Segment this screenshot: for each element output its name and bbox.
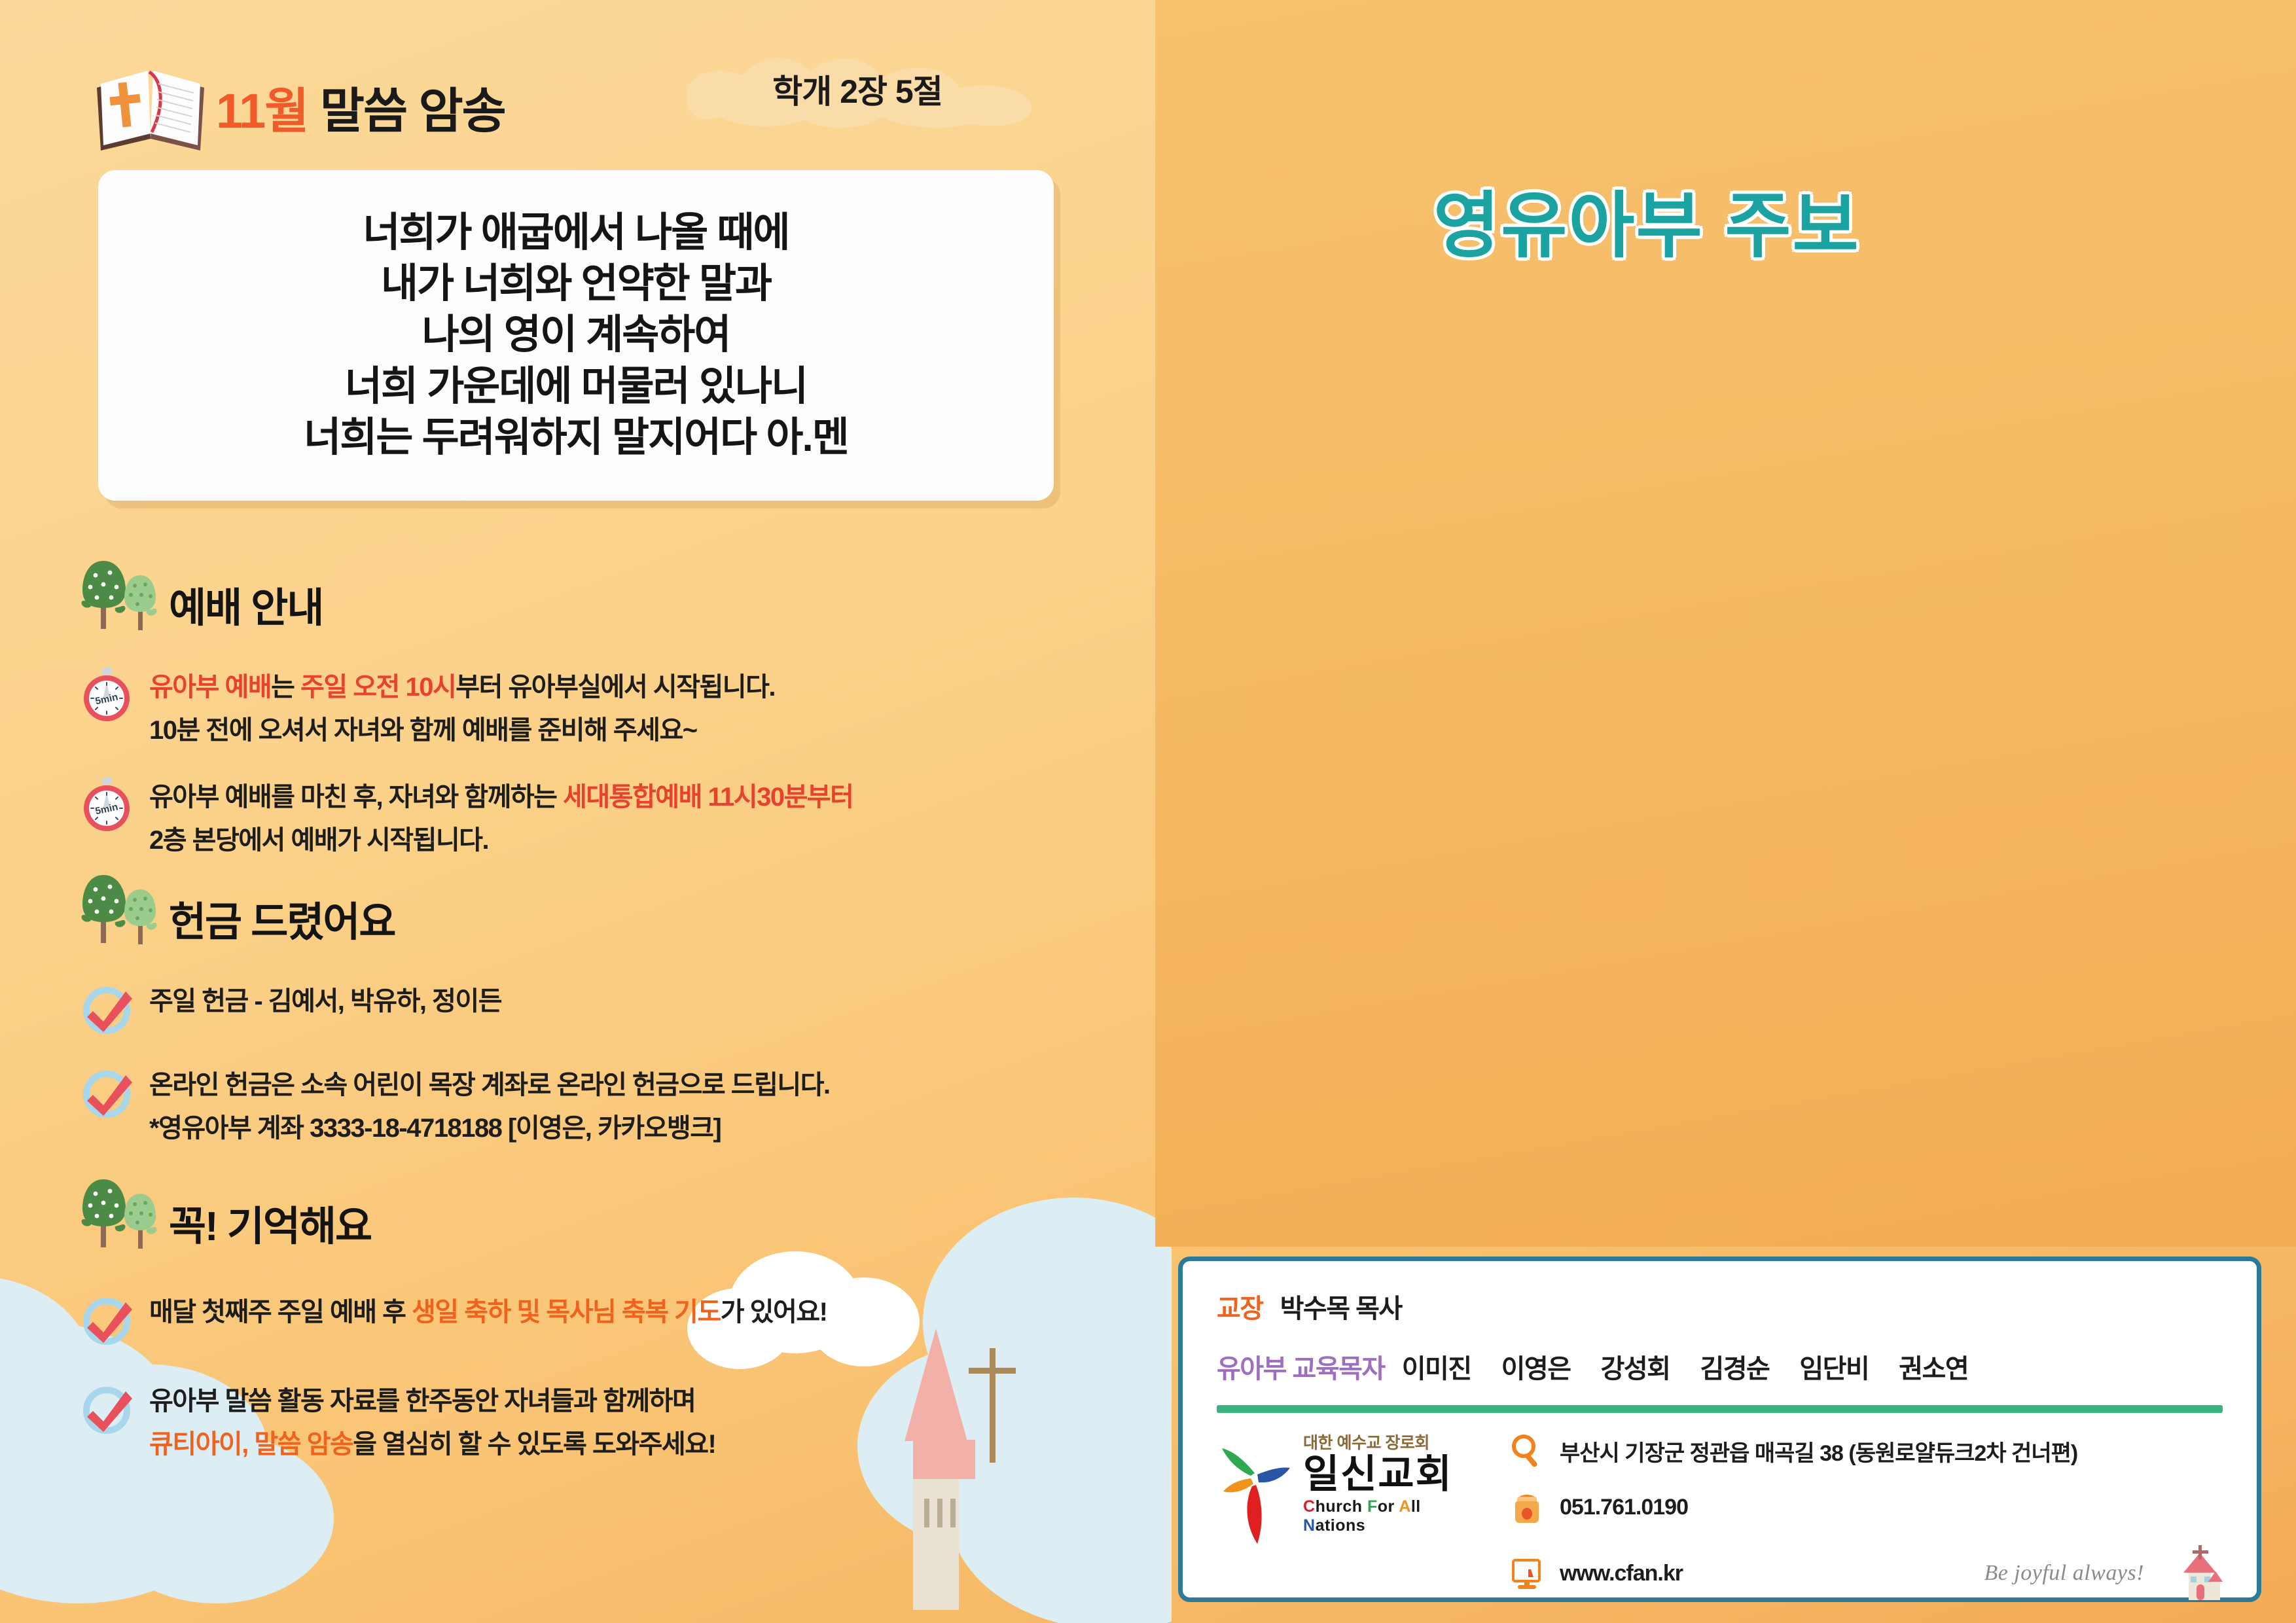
info-box: 교장 박수목 목사 유아부 교육목자 이미진 이영은 강성회 김경순 임단비 권…	[1178, 1257, 2261, 1602]
stopwatch-icon: 5min	[79, 777, 135, 833]
contact-phone: 051.761.0190	[1509, 1489, 2223, 1525]
bullet-text: 유아부 말씀 활동 자료를 한주동안 자녀들과 함께하며 큐티아이, 말씀 암송…	[149, 1380, 715, 1466]
teacher-name-list: 이미진 이영은 강성회 김경순 임단비 권소연	[1402, 1347, 1968, 1385]
bullet-text: 매달 첫째주 주일 예배 후 생일 축하 및 목사님 축복 기도가 있어요!	[149, 1291, 827, 1334]
memory-verse-month: 11월	[216, 84, 308, 138]
church-name: 일신교회	[1303, 1454, 1479, 1495]
section-header: 꼭! 기억해요	[79, 1178, 1100, 1250]
bullet-item: 5min 유아부 예배를 마친 후, 자녀와 함께하는 세대통합예배 11시30…	[79, 776, 1100, 862]
website-text: www.cfan.kr	[1560, 1561, 1683, 1586]
slogan: Be joyful always!	[1984, 1561, 2144, 1586]
info-bottom: 대한 예수교 장로회 일신교회 Church For All Nations	[1217, 1430, 2223, 1601]
search-pin-icon	[1509, 1433, 1545, 1469]
divider	[1217, 1405, 2223, 1413]
teacher-name: 강성회	[1601, 1347, 1670, 1385]
trees-icon	[79, 1178, 157, 1250]
verse-line: 너희가 애굽에서 나올 때에	[363, 207, 789, 259]
teacher-name: 임단비	[1799, 1347, 1869, 1385]
verse-line: 나의 영이 계속하여	[422, 310, 730, 361]
bullet-text: 유아부 예배는 주일 오전 10시부터 유아부실에서 시작됩니다. 10분 전에…	[149, 666, 775, 752]
bullet-item: 온라인 헌금은 소속 어린이 목장 계좌로 온라인 헌금으로 드립니다. *영유…	[79, 1063, 1100, 1150]
monitor-icon	[1509, 1555, 1545, 1592]
address-text: 부산시 기장군 정관읍 매곡길 38 (동원로얄듀크2차 건너편)	[1560, 1435, 2077, 1467]
memory-verse-label: 말씀 암송	[308, 84, 505, 138]
bullet-text: 온라인 헌금은 소속 어린이 목장 계좌로 온라인 헌금으로 드립니다. *영유…	[149, 1063, 830, 1150]
church-logo: 대한 예수교 장로회 일신교회 Church For All Nations	[1217, 1430, 1479, 1535]
contact-website: www.cfan.kr Be joyful always!	[1509, 1545, 2223, 1601]
principal-label: 교장	[1217, 1287, 1263, 1325]
church-building-icon	[2170, 1545, 2223, 1601]
bullet-item: 유아부 말씀 활동 자료를 한주동안 자녀들과 함께하며 큐티아이, 말씀 암송…	[79, 1380, 1100, 1466]
contact-block: 부산시 기장군 정관읍 매곡길 38 (동원로얄듀크2차 건너편) 051.76…	[1509, 1430, 2223, 1601]
teacher-name: 권소연	[1899, 1347, 1968, 1385]
contact-address: 부산시 기장군 정관읍 매곡길 38 (동원로얄듀크2차 건너편)	[1509, 1433, 2223, 1469]
telephone-icon	[1509, 1489, 1545, 1525]
verse-line: 너희 가운데에 머물러 있나니	[345, 361, 807, 412]
principal-name: 박수목 목사	[1280, 1287, 1402, 1325]
bullet-item: 5min 유아부 예배는 주일 오전 10시부터 유아부실에서 시작됩니다. 1…	[79, 666, 1100, 752]
check-icon	[79, 1292, 135, 1348]
bullet-text: 유아부 예배를 마친 후, 자녀와 함께하는 세대통합예배 11시30분부터 2…	[149, 776, 853, 862]
section-header: 예배 안내	[79, 560, 1100, 632]
phone-text: 051.761.0190	[1560, 1495, 1688, 1520]
verse-line: 너희는 두려워하지 말지어다 아.멘	[304, 412, 848, 463]
section-worship-info: 예배 안내 5min 유아부 예배는 주일 오전 10시부터 유아부실에서 시작…	[79, 560, 1100, 862]
trees-icon	[79, 874, 157, 946]
principal-row: 교장 박수목 목사	[1217, 1287, 2223, 1325]
section-title: 헌금 드렸어요	[169, 902, 395, 946]
teachers-row: 유아부 교육목자 이미진 이영은 강성회 김경순 임단비 권소연	[1217, 1347, 2223, 1385]
church-logo-mark	[1217, 1433, 1295, 1557]
stopwatch-icon: 5min	[79, 667, 135, 723]
check-icon	[79, 1065, 135, 1121]
section-header: 헌금 드렸어요	[79, 874, 1100, 946]
memory-verse-card: 너희가 애굽에서 나올 때에 내가 너희와 언약한 말과 나의 영이 계속하여 …	[98, 170, 1054, 501]
teacher-name: 이미진	[1402, 1347, 1471, 1385]
bulletin-page: 11월 말씀 암송 학개 2장 5절 예수님 안에서 행복한 영유아부 2025…	[0, 0, 2296, 1623]
section-title: 예배 안내	[169, 588, 323, 632]
bullet-text: 주일 헌금 - 김예서, 박유하, 정이든	[149, 980, 501, 1023]
trees-icon	[79, 560, 157, 632]
section-offering: 헌금 드렸어요 주일 헌금 - 김예서, 박유하, 정이든 온라인 헌금은 소속…	[79, 874, 1100, 1150]
section-remember: 꼭! 기억해요 매달 첫째주 주일 예배 후 생일 축하 및 목사님 축복 기도…	[79, 1178, 1100, 1466]
check-icon	[79, 981, 135, 1037]
bullet-item: 매달 첫째주 주일 예배 후 생일 축하 및 목사님 축복 기도가 있어요!	[79, 1291, 1100, 1348]
verse-line: 내가 너희와 언약한 말과	[381, 259, 771, 310]
bulletin-title: 영유아부 주보	[1433, 167, 1860, 272]
church-english-name: Church For All Nations	[1303, 1497, 1479, 1535]
bullet-item: 주일 헌금 - 김예서, 박유하, 정이든	[79, 980, 1100, 1037]
teacher-name: 이영은	[1501, 1347, 1571, 1385]
bible-icon	[92, 65, 209, 157]
teachers-label: 유아부 교육목자	[1217, 1347, 1385, 1385]
section-title: 꼭! 기억해요	[169, 1207, 371, 1250]
memory-verse-title: 11월 말씀 암송	[216, 72, 505, 142]
verse-reference: 학개 2장 5절	[674, 65, 1041, 113]
denomination-name: 대한 예수교 장로회	[1303, 1430, 1479, 1454]
check-icon	[79, 1381, 135, 1437]
teacher-name: 김경순	[1700, 1347, 1769, 1385]
